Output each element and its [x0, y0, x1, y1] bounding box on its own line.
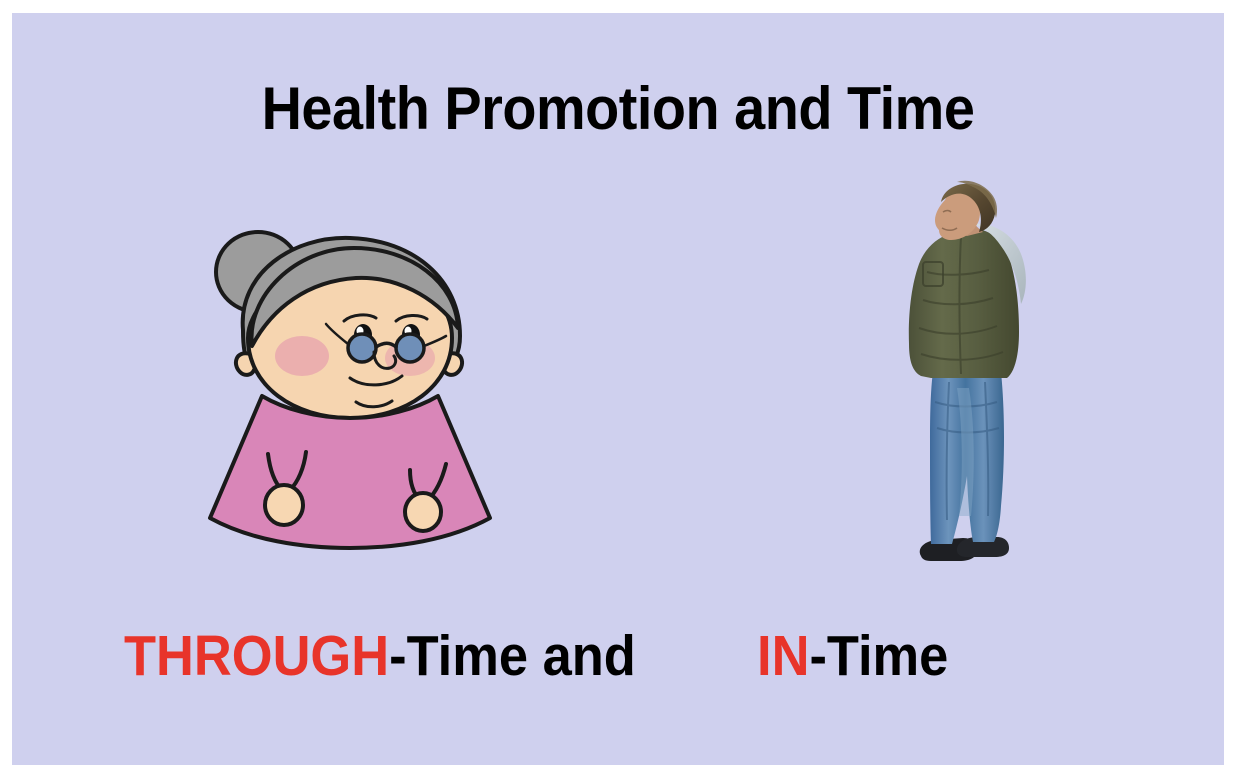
caption-in-time: IN-Time: [757, 621, 948, 691]
hand-right: [405, 493, 441, 531]
cheek-left: [275, 336, 329, 376]
elderly-woman-illustration: [198, 218, 498, 563]
standing-man-illustration: [897, 176, 1042, 576]
caption-in-rest: -Time: [809, 624, 948, 688]
slide-root: Health Promotion and Time: [0, 0, 1238, 780]
caption-through-time: THROUGH-Time and: [124, 621, 636, 691]
hand-left: [265, 485, 303, 525]
caption-row: THROUGH-Time and IN-Time: [12, 621, 1224, 701]
caption-through-keyword: THROUGH: [124, 624, 389, 688]
dress: [210, 396, 490, 548]
caption-through-rest: -Time and: [389, 624, 636, 688]
page-title: Health Promotion and Time: [54, 75, 1181, 143]
slide-canvas: Health Promotion and Time: [12, 13, 1224, 765]
caption-in-keyword: IN: [757, 624, 809, 688]
